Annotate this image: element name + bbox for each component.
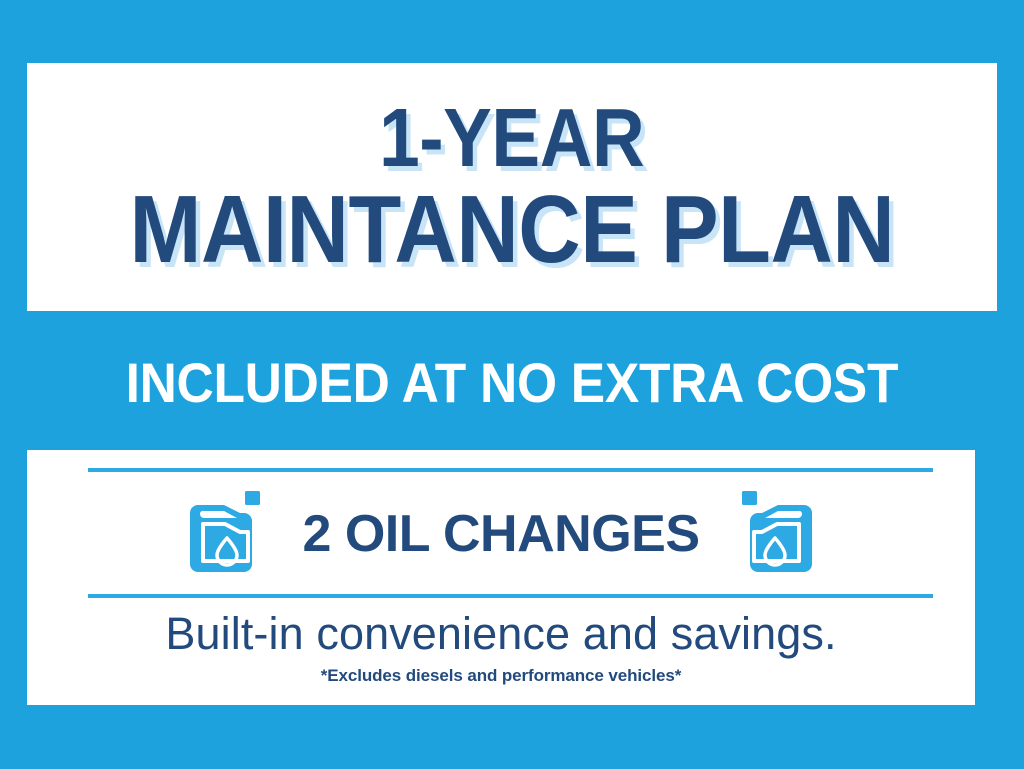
fine-print-disclaimer: *Excludes diesels and performance vehicl…	[27, 666, 975, 686]
headline-panel: 1-YEAR MAINTANCE PLAN	[27, 63, 997, 311]
subtitle-text: INCLUDED AT NO EXTRA COST	[126, 350, 899, 415]
oil-changes-label: 2 OIL CHANGES	[302, 504, 699, 564]
headline-line-1: 1-YEAR	[379, 98, 644, 178]
details-panel: 2 OIL CHANGES Built-in convenience and s…	[27, 450, 975, 705]
tagline: Built-in convenience and savings.	[27, 608, 975, 660]
oil-jug-icon	[190, 488, 264, 580]
headline-line-2: MAINTANCE PLAN	[130, 184, 895, 276]
divider-rule-bottom	[88, 594, 933, 598]
promo-card: 1-YEAR MAINTANCE PLAN INCLUDED AT NO EXT…	[0, 0, 1024, 769]
subtitle-band: INCLUDED AT NO EXTRA COST	[27, 330, 997, 434]
divider-rule-top	[88, 468, 933, 472]
oil-changes-row: 2 OIL CHANGES	[27, 480, 975, 588]
oil-jug-icon	[738, 488, 812, 580]
